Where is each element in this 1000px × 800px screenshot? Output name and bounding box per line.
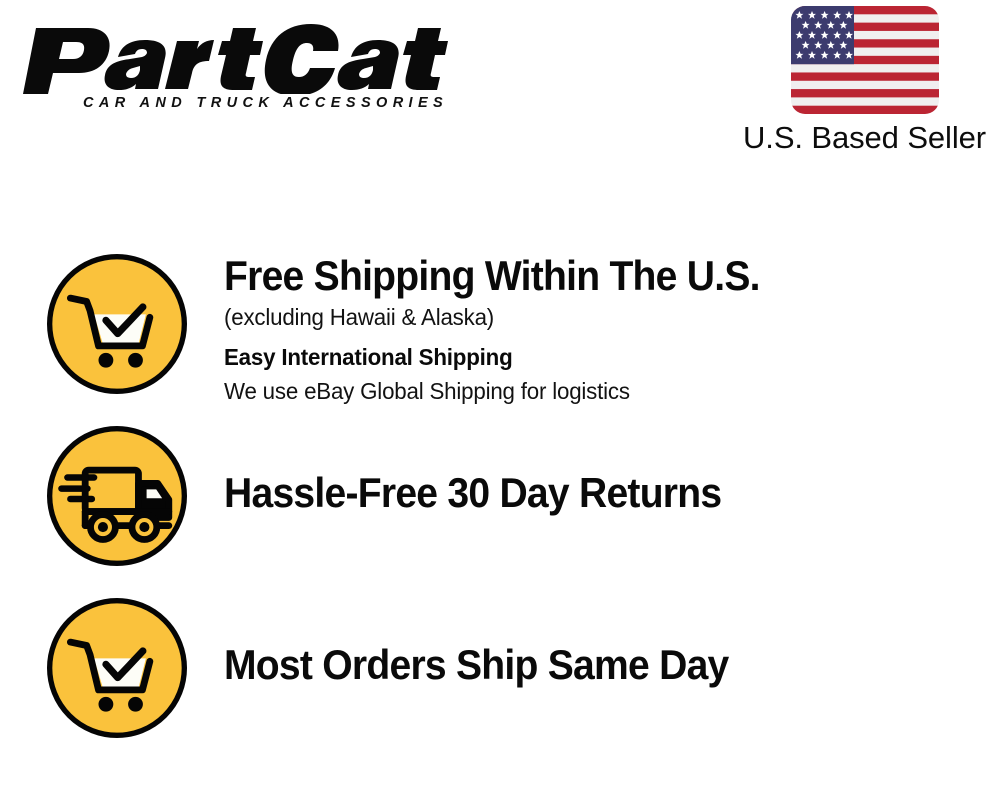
us-flag-icon [791,6,939,114]
banner-header: CAR AND TRUCK ACCESSORIES [0,0,1000,170]
benefit-note: (excluding Hawaii & Alaska) [224,300,977,334]
benefit-text-group: Hassle-Free 30 Day Returns [224,422,1000,517]
benefit-text-group: Free Shipping Within The U.S. (excluding… [224,250,1000,408]
logo-tagline: CAR AND TRUCK ACCESSORIES [83,95,492,111]
shipping-info-banner: CAR AND TRUCK ACCESSORIES [0,0,1000,800]
us-based-seller-badge: U.S. Based Seller [743,6,986,156]
delivery-truck-icon [43,422,191,570]
shopping-cart-check-icon [43,250,191,398]
partcatalog-wordmark-icon [22,22,484,94]
benefit-row: Hassle-Free 30 Day Returns [0,422,1000,570]
benefit-text-group: Most Orders Ship Same Day [224,594,1000,689]
benefit-row: Free Shipping Within The U.S. (excluding… [0,250,1000,408]
benefit-subtext: We use eBay Global Shipping for logistic… [224,374,977,408]
benefit-title: Most Orders Ship Same Day [224,641,946,689]
benefit-subheading: Easy International Shipping [224,340,977,374]
benefit-title: Hassle-Free 30 Day Returns [224,469,946,517]
shopping-cart-check-icon [43,594,191,742]
benefit-title: Free Shipping Within The U.S. [224,252,946,300]
benefit-row: Most Orders Ship Same Day [0,594,1000,742]
us-based-seller-label: U.S. Based Seller [743,120,986,156]
brand-logo[interactable]: CAR AND TRUCK ACCESSORIES [22,22,492,111]
